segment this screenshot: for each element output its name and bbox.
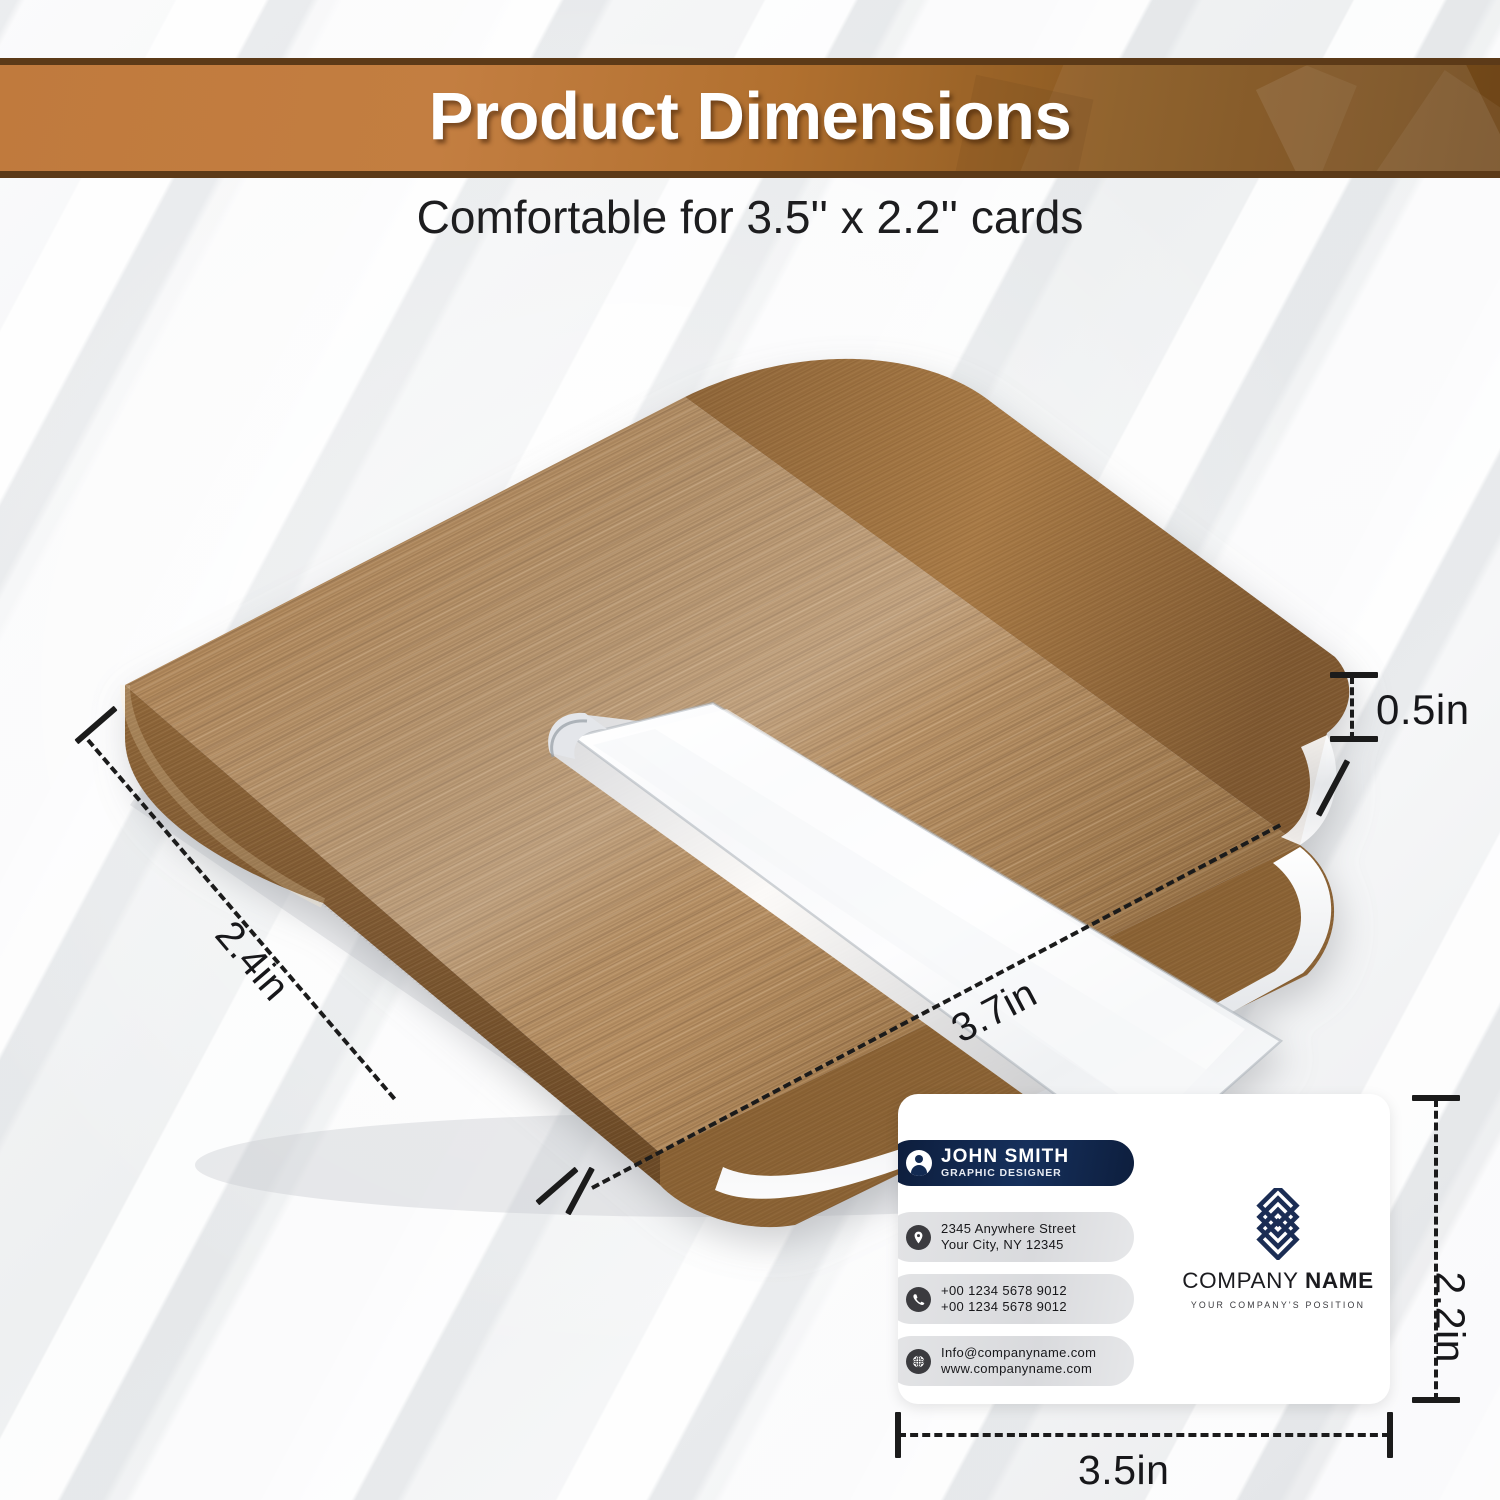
company-name-bold: NAME [1305, 1268, 1374, 1293]
product-image-card-holder [95, 285, 1330, 1190]
company-name: COMPANY NAME [1182, 1268, 1373, 1294]
card-phone-line2: +00 1234 5678 9012 [941, 1299, 1067, 1315]
product-dimensions-infographic: Product Dimensions Comfortable for 3.5''… [0, 0, 1500, 1500]
card-phone-text: +00 1234 5678 9012 +00 1234 5678 9012 [941, 1283, 1067, 1315]
card-person-name: JOHN SMITH [941, 1147, 1069, 1167]
company-name-light: COMPANY [1182, 1268, 1298, 1293]
card-email: Info@companyname.com [941, 1345, 1096, 1361]
card-address-text: 2345 Anywhere Street Your City, NY 12345 [941, 1221, 1076, 1253]
card-address-line1: 2345 Anywhere Street [941, 1221, 1076, 1237]
business-card-right-column: COMPANY NAME YOUR COMPANY'S POSITION [1166, 1094, 1390, 1404]
card-phone-line1: +00 1234 5678 9012 [941, 1283, 1067, 1299]
globe-icon [906, 1349, 931, 1374]
person-icon [906, 1150, 932, 1176]
card-address-row: 2345 Anywhere Street Your City, NY 12345 [898, 1212, 1134, 1262]
name-text-group: JOHN SMITH GRAPHIC DESIGNER [941, 1147, 1069, 1179]
location-pin-icon [906, 1225, 931, 1250]
name-badge: JOHN SMITH GRAPHIC DESIGNER [898, 1140, 1134, 1186]
card-person-role: GRAPHIC DESIGNER [941, 1168, 1069, 1179]
business-card-left-column: JOHN SMITH GRAPHIC DESIGNER 2345 Anywher… [898, 1094, 1152, 1404]
card-address-line2: Your City, NY 12345 [941, 1237, 1076, 1253]
company-tagline: YOUR COMPANY'S POSITION [1191, 1300, 1365, 1310]
card-website: www.companyname.com [941, 1361, 1096, 1377]
page-title: Product Dimensions [0, 78, 1500, 155]
subtitle-text: Comfortable for 3.5'' x 2.2'' cards [0, 190, 1500, 244]
card-phone-row: +00 1234 5678 9012 +00 1234 5678 9012 [898, 1274, 1134, 1324]
business-card-sample: JOHN SMITH GRAPHIC DESIGNER 2345 Anywher… [898, 1094, 1390, 1404]
card-web-row: Info@companyname.com www.companyname.com [898, 1336, 1134, 1386]
header-banner: Product Dimensions [0, 58, 1500, 178]
phone-icon [906, 1287, 931, 1312]
card-holder-illustration [95, 285, 1330, 1190]
company-logo-icon [1230, 1188, 1326, 1260]
card-web-text: Info@companyname.com www.companyname.com [941, 1345, 1096, 1377]
